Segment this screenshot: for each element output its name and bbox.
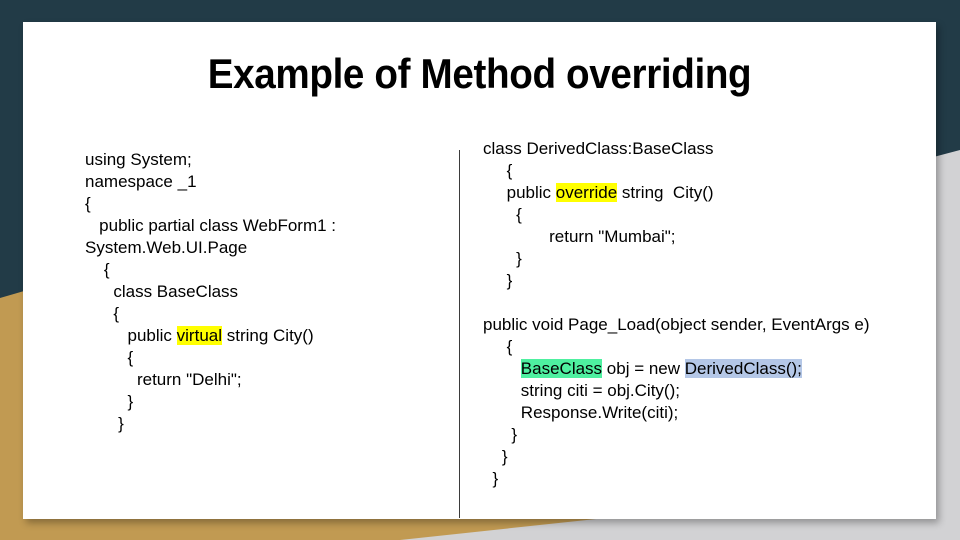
code-highlight: DerivedClass(); [685, 359, 802, 378]
code-line [483, 292, 913, 314]
code-text: string City() [222, 326, 314, 345]
code-line: public partial class WebForm1 : System.W… [85, 215, 415, 259]
slide-canvas: Example of Method overriding using Syste… [0, 0, 960, 540]
code-text [483, 359, 521, 378]
code-highlight: virtual [177, 326, 222, 345]
code-line: Response.Write(citi); [483, 402, 913, 424]
code-line: BaseClass obj = new DerivedClass(); [483, 358, 913, 380]
code-line: } [483, 270, 913, 292]
code-line: string citi = obj.City(); [483, 380, 913, 402]
code-block-right: class DerivedClass:BaseClass { public ov… [483, 138, 913, 490]
slide-title: Example of Method overriding [60, 50, 900, 98]
code-block-left: using System;namespace _1{ public partia… [85, 149, 415, 435]
code-line: class DerivedClass:BaseClass [483, 138, 913, 160]
code-line: class BaseClass [85, 281, 415, 303]
code-highlight: BaseClass [521, 359, 602, 378]
code-line: return "Delhi"; [85, 369, 415, 391]
code-line: { [85, 193, 415, 215]
code-text: string City() [617, 183, 713, 202]
column-divider [459, 150, 460, 518]
slide-content-card: Example of Method overriding using Syste… [23, 22, 936, 519]
code-line: return "Mumbai"; [483, 226, 913, 248]
code-line: } [85, 391, 415, 413]
code-line: { [483, 204, 913, 226]
code-text: public [483, 183, 556, 202]
code-line: } [483, 446, 913, 468]
code-line: public virtual string City() [85, 325, 415, 347]
code-line: namespace _1 [85, 171, 415, 193]
code-line: { [85, 303, 415, 325]
code-line: { [483, 160, 913, 182]
code-line: { [85, 347, 415, 369]
code-line: public void Page_Load(object sender, Eve… [483, 314, 913, 336]
code-line: { [85, 259, 415, 281]
code-line: using System; [85, 149, 415, 171]
code-line: } [483, 248, 913, 270]
code-highlight: override [556, 183, 617, 202]
code-line: } [483, 424, 913, 446]
code-line: } [483, 468, 913, 490]
code-text: obj = new [602, 359, 685, 378]
code-line: { [483, 336, 913, 358]
code-text: public [85, 326, 177, 345]
code-line: public override string City() [483, 182, 913, 204]
code-line: } [85, 413, 415, 435]
